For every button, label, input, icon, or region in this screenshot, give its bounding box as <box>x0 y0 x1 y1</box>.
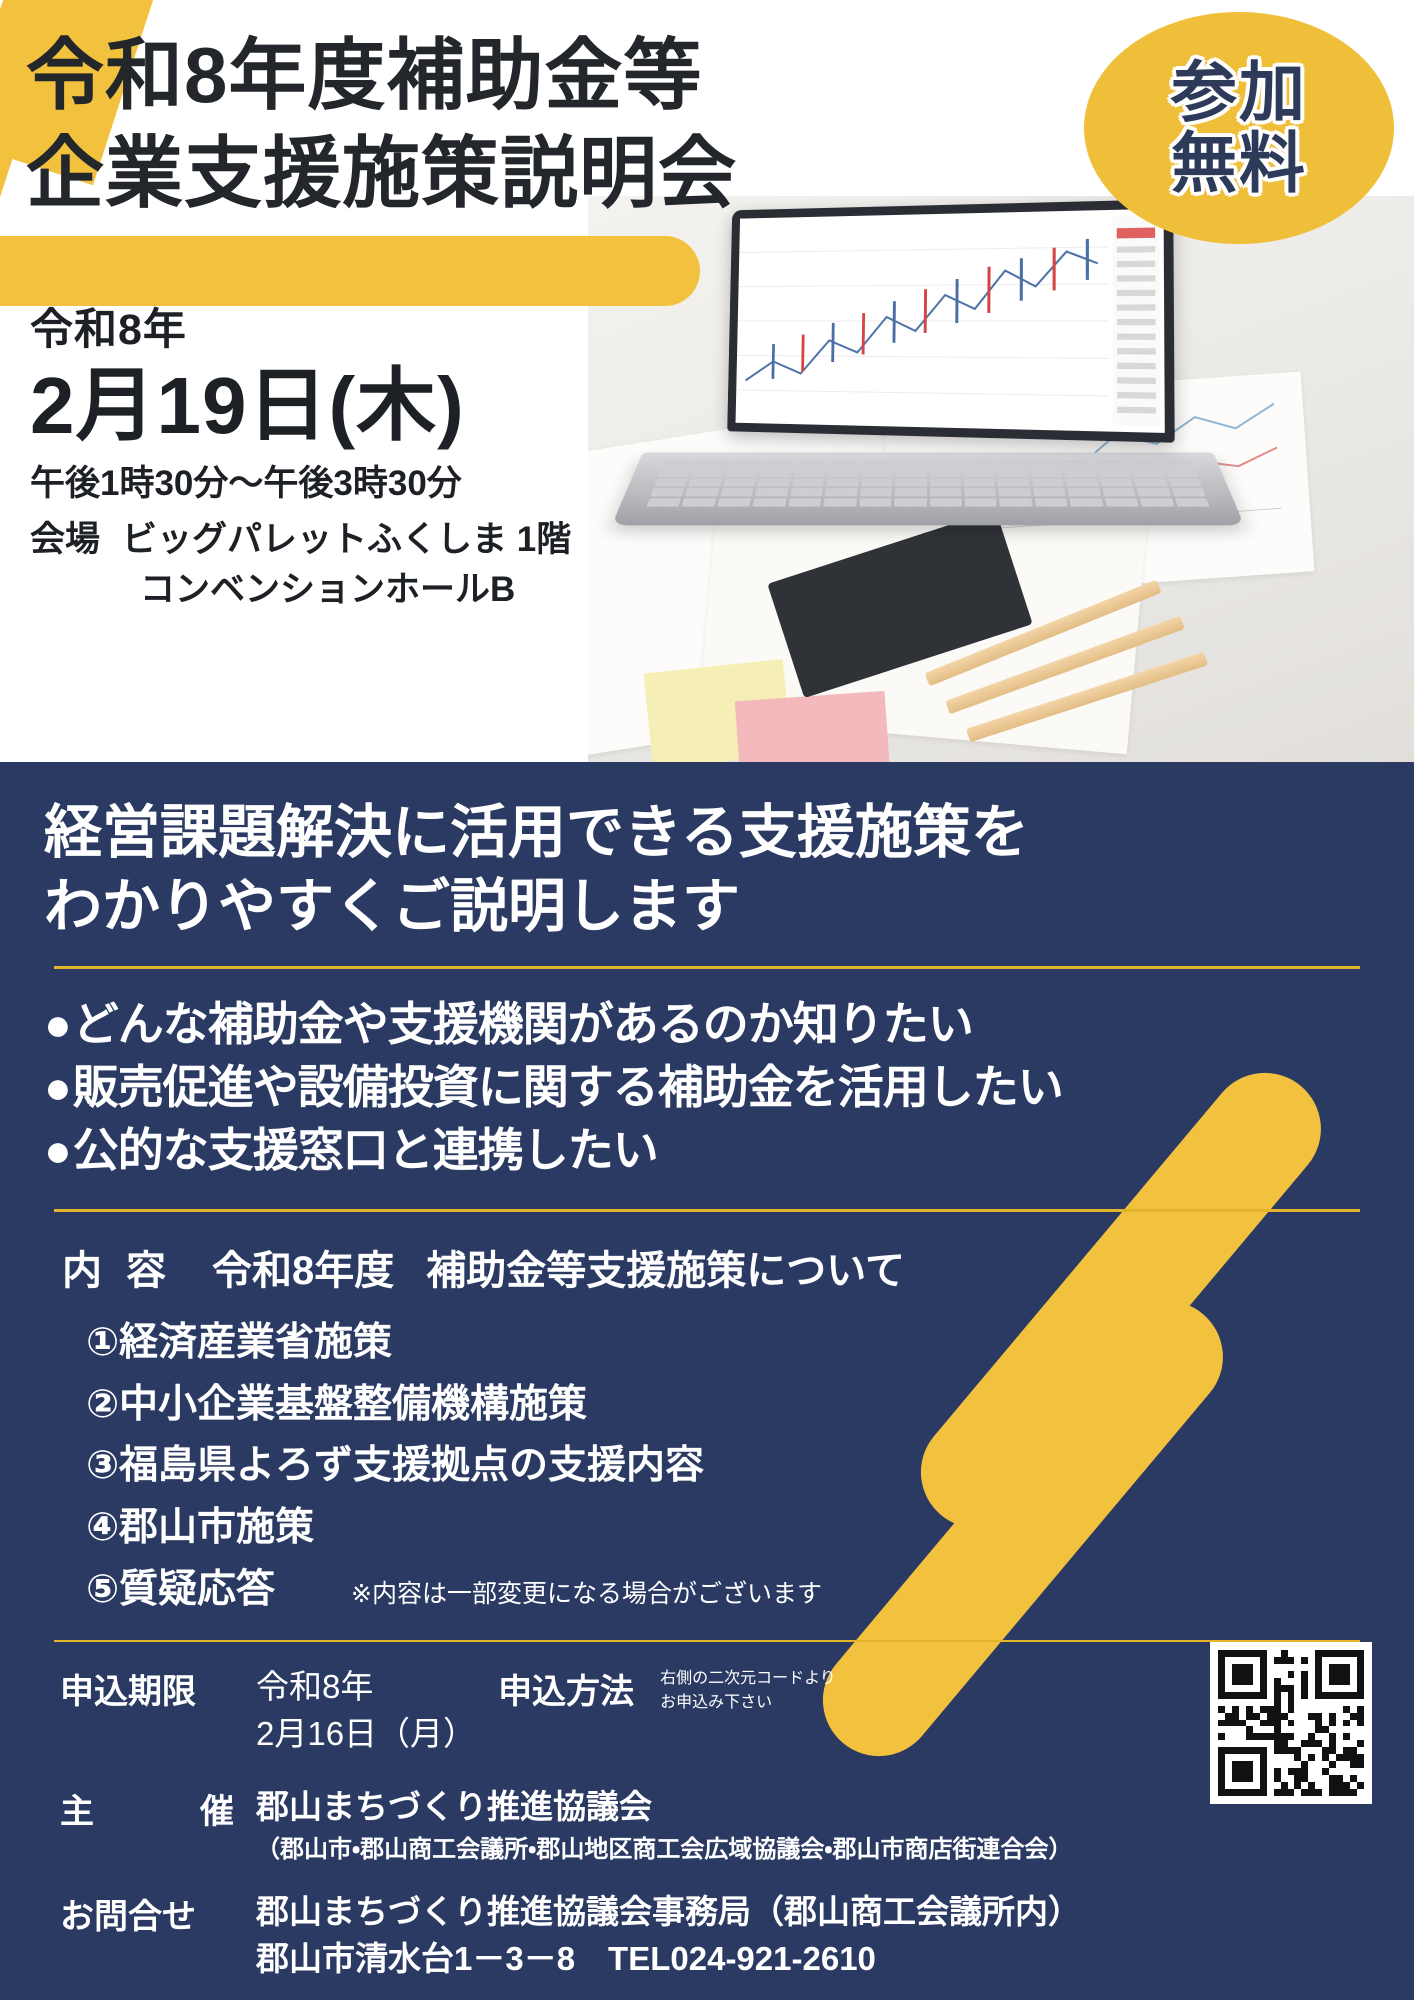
deadline-line-1: 令和8年 <box>256 1668 373 1705</box>
headline-line-2: わかりやすくご説明します <box>44 870 1370 944</box>
bullet-dot-icon: ● <box>44 998 71 1050</box>
agenda-heading: 内容令和8年度補助金等支援施策について <box>62 1238 1370 1296</box>
header-section: 令和8年度補助金等 企業支援施策説明会 参加 無料 令和8年 2月19日(木) … <box>0 0 1414 762</box>
method-line-2: お申込み下さい <box>660 1694 772 1711</box>
contact-row: お問合せ 郡山まちづくり推進協議会事務局（郡山商工会議所内） 郡山市清水台1－3… <box>60 1889 1370 1983</box>
laptop-screen <box>727 199 1174 443</box>
venue-value-1: ビッグパレットふくしま 1階 <box>122 520 571 559</box>
event-year: 令和8年 <box>30 300 571 360</box>
contact-label: お問合せ <box>60 1889 256 1938</box>
organizer-members: （郡山市・郡山商工会議所・郡山地区商工会広域協議会・郡山市商店街連合会） <box>256 1833 1072 1867</box>
method-label: 申込方法 <box>498 1664 634 1713</box>
deadline-line-2: 2月16日（月） <box>256 1715 476 1752</box>
main-content: 経営課題解決に活用できる支援施策を わかりやすくご説明します ●どんな補助金や支… <box>0 762 1414 1983</box>
headline-line-1: 経営課題解決に活用できる支援施策を <box>44 796 1370 870</box>
qr-code-icon <box>1218 1650 1364 1796</box>
organizer-value: 郡山まちづくり推進協議会 （郡山市・郡山商工会議所・郡山地区商工会広域協議会・郡… <box>256 1784 1072 1867</box>
keyboard-keys <box>646 460 1209 506</box>
agenda-list: ①経済産業省施策 ②中小企業基盤整備機構施策 ③福島県よろず支援拠点の支援内容 … <box>86 1312 1370 1620</box>
contact-value: 郡山まちづくり推進協議会事務局（郡山商工会議所内） 郡山市清水台1－3－8 TE… <box>256 1889 1081 1983</box>
hero-photo <box>588 196 1414 762</box>
photo-sticky-pink <box>735 691 891 762</box>
title-line-1: 令和8年度補助金等 <box>26 26 737 124</box>
badge-line-1: 参加 <box>1171 58 1307 127</box>
event-venue-line-2: コンベンションホールB <box>30 565 571 616</box>
list-item: ⑤質疑応答※内容は一部変更になる場合がございます <box>86 1559 1370 1621</box>
event-date: 2月19日(木) <box>30 360 571 452</box>
yellow-bar-divider <box>0 236 700 306</box>
stock-chart-icon <box>736 209 1165 433</box>
deadline-label: 申込期限 <box>60 1664 256 1713</box>
list-item-label: どんな補助金や支援機関があるのか知りたい <box>73 998 973 1050</box>
list-item: ④郡山市施策 <box>86 1497 1370 1559</box>
laptop-keyboard <box>612 452 1245 525</box>
main-section: 経営課題解決に活用できる支援施策を わかりやすくご説明します ●どんな補助金や支… <box>0 762 1414 2000</box>
page-title: 令和8年度補助金等 企業支援施策説明会 <box>26 26 737 223</box>
agenda-heading-label: 内容 <box>62 1249 190 1293</box>
list-item: ②中小企業基盤整備機構施策 <box>86 1374 1370 1436</box>
method-value: 右側の二次元コードより お申込み下さい <box>660 1664 836 1712</box>
agenda-heading-year: 令和8年度 <box>212 1249 394 1293</box>
method-line-1: 右側の二次元コードより <box>660 1670 836 1687</box>
list-item: ●どんな補助金や支援機関があるのか知りたい <box>44 993 1370 1056</box>
event-venue-line-1: 会場ビッグパレットふくしま 1階 <box>30 515 571 566</box>
laptop-screen-content <box>736 209 1165 433</box>
deadline-value: 令和8年 2月16日（月） <box>256 1664 476 1758</box>
contact-line-1: 郡山まちづくり推進協議会事務局（郡山商工会議所内） <box>256 1893 1081 1930</box>
details-block: 申込期限 令和8年 2月16日（月） 申込方法 右側の二次元コードより お申込み… <box>60 1664 1370 1982</box>
organizer-row: 主催 郡山まちづくり推進協議会 （郡山市・郡山商工会議所・郡山地区商工会広域協議… <box>60 1784 1370 1867</box>
list-item: ●販売促進や設備投資に関する補助金を活用したい <box>44 1056 1370 1119</box>
bullet-dot-icon: ● <box>44 1124 71 1176</box>
list-item-label: 販売促進や設備投資に関する補助金を活用したい <box>73 1061 1063 1113</box>
event-details: 令和8年 2月19日(木) 午後1時30分～午後3時30分 会場ビッグパレットふ… <box>30 300 571 616</box>
deadline-group: 申込期限 令和8年 2月16日（月） <box>60 1664 476 1758</box>
poster-root: 令和8年度補助金等 企業支援施策説明会 参加 無料 令和8年 2月19日(木) … <box>0 0 1414 2000</box>
benefit-list: ●どんな補助金や支援機関があるのか知りたい ●販売促進や設備投資に関する補助金を… <box>44 993 1370 1181</box>
organizer-label: 主催 <box>60 1784 256 1833</box>
divider-2 <box>54 1209 1360 1212</box>
list-item: ①経済産業省施策 <box>86 1312 1370 1374</box>
venue-label: 会場 <box>30 520 100 559</box>
event-time: 午後1時30分～午後3時30分 <box>30 458 571 511</box>
organizer-name: 郡山まちづくり推進協議会 <box>256 1788 652 1825</box>
bullet-dot-icon: ● <box>44 1061 71 1113</box>
qr-code[interactable] <box>1210 1642 1372 1804</box>
agenda-heading-title: 補助金等支援施策について <box>426 1249 905 1293</box>
application-row: 申込期限 令和8年 2月16日（月） 申込方法 右側の二次元コードより お申込み… <box>60 1664 1370 1758</box>
list-item: ③福島県よろず支援拠点の支援内容 <box>86 1435 1370 1497</box>
free-participation-badge: 参加 無料 <box>1084 12 1394 244</box>
list-item-label: 公的な支援窓口と連携したい <box>73 1124 658 1176</box>
divider-3 <box>54 1640 1360 1642</box>
method-group: 申込方法 右側の二次元コードより お申込み下さい <box>498 1664 836 1713</box>
list-item-label: ⑤質疑応答 <box>86 1568 275 1611</box>
list-item: ●公的な支援窓口と連携したい <box>44 1119 1370 1182</box>
badge-line-2: 無料 <box>1171 129 1307 198</box>
contact-line-2: 郡山市清水台1－3－8 TEL024-921-2610 <box>256 1940 876 1977</box>
title-line-2: 企業支援施策説明会 <box>26 124 737 222</box>
divider-1 <box>54 966 1360 969</box>
agenda-note: ※内容は一部変更になる場合がございます <box>351 1580 822 1608</box>
